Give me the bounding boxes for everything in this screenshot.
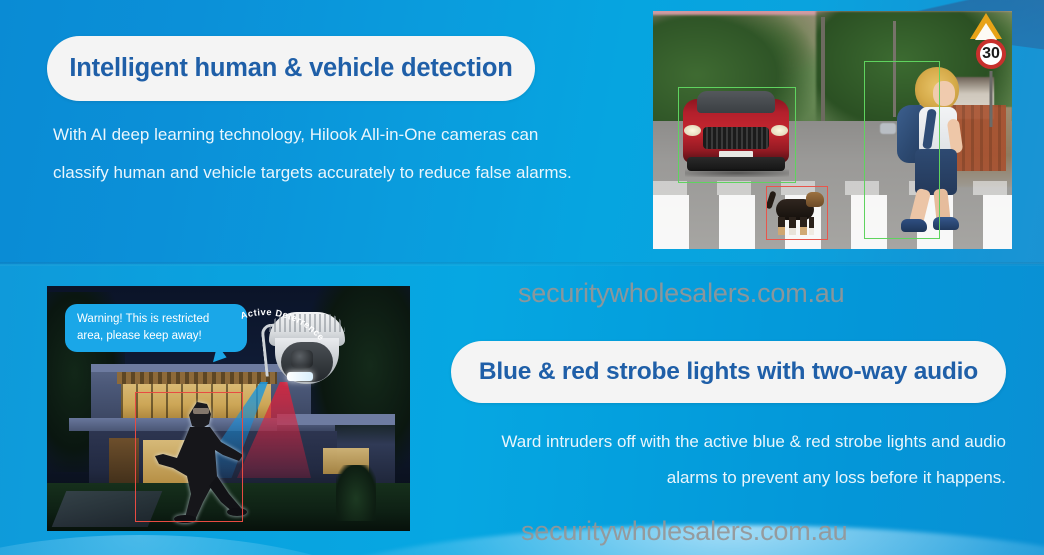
turret-camera (261, 302, 353, 394)
warning-triangle-sign-icon (970, 13, 1002, 39)
detection-box-vehicle (678, 87, 796, 183)
bubble-line-1: Warning! This is restricted (77, 311, 237, 328)
camera-white-led (287, 372, 313, 381)
house-timber-beams (117, 372, 277, 384)
feature-description-top: With AI deep learning technology, Hilook… (53, 116, 573, 192)
camera-base-ridges (269, 314, 345, 332)
speed-limit-sign-icon: 30 (976, 39, 1006, 69)
sign-post (990, 71, 993, 127)
feature-pill-human-vehicle-detection: Intelligent human & vehicle detection (47, 36, 535, 101)
banner-root: Intelligent human & vehicle detection Wi… (0, 0, 1044, 555)
shrub (336, 465, 376, 521)
utility-pole (821, 17, 825, 121)
night-deterrence-photo: Warning! This is restricted area, please… (47, 286, 410, 531)
intruder-detection-box (135, 392, 243, 522)
watermark-middle: securitywholesalers.com.au (518, 278, 844, 309)
bubble-line-2: area, please keep away! (77, 328, 237, 345)
band-divider (0, 262, 1044, 266)
feature-description-bottom: Ward intruders off with the active blue … (460, 424, 1006, 496)
camera-lens-icon (291, 350, 313, 368)
feature-pill-strobe-lights-two-way-audio: Blue & red strobe lights with two-way au… (451, 341, 1006, 403)
detection-box-non-target (766, 186, 828, 240)
street-detection-photo: 30 (653, 11, 1012, 249)
audio-warning-speech-bubble: Warning! This is restricted area, please… (65, 304, 247, 352)
watermark-bottom: securitywholesalers.com.au (521, 516, 847, 547)
detection-box-human (864, 61, 940, 239)
